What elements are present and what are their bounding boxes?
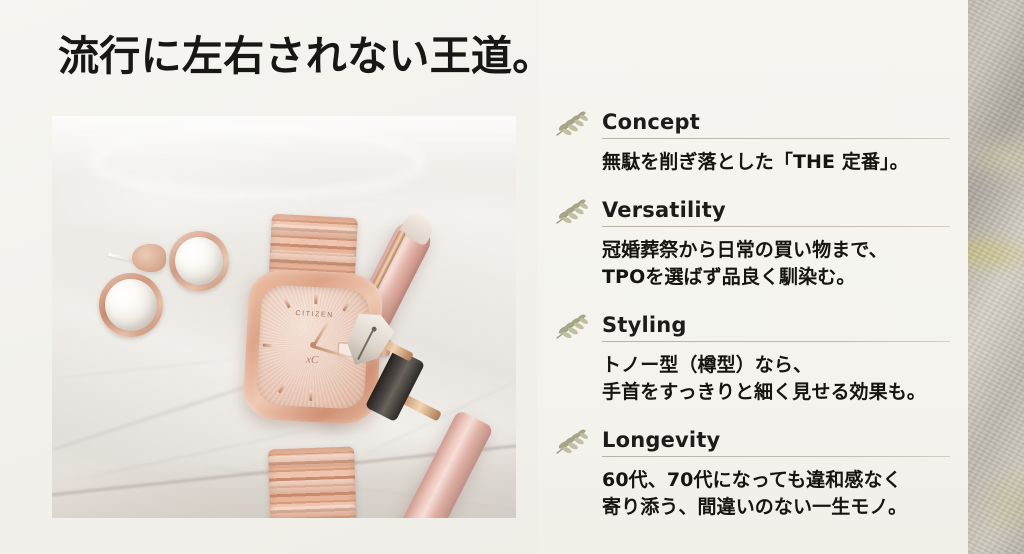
olive-branch-icon	[554, 110, 588, 138]
bracelet-link	[269, 479, 355, 495]
earring-back	[132, 244, 166, 272]
slide-canvas: 流行に左右されない王道。「basic collection」	[0, 0, 1024, 554]
feature-body: 冠婚葬祭から日常の買い物まで、 TPOを選ばず品良く馴染む。	[602, 237, 950, 291]
olive-branch-icon	[554, 428, 588, 456]
feature-header: Styling	[554, 311, 950, 343]
feature-divider	[602, 456, 950, 457]
feature-body: 無駄を削ぎ落とした「THE 定番」。	[602, 149, 950, 176]
feature-header: Concept	[554, 108, 950, 140]
feature-section-longevity: Longevity 60代、70代になっても違和感なく 寄り添う、間違いのない一…	[554, 426, 950, 521]
pearl	[105, 279, 157, 331]
feature-section-versatility: Versatility 冠婚葬祭から日常の買い物まで、 TPOを選ばず品良く馴染…	[554, 196, 950, 291]
feature-section-styling: Styling トノー型（樽型）なら、 手首をすっきりと細く見せる効果も。	[554, 311, 950, 406]
feature-divider	[602, 226, 950, 227]
feature-list: Concept 無駄を削ぎ落とした「THE 定番」。	[554, 108, 950, 521]
feature-title: Concept	[602, 108, 700, 136]
feature-header: Versatility	[554, 196, 950, 228]
blurred-glass-rim	[92, 126, 424, 198]
fabric-grain	[968, 0, 1024, 554]
wristwatch: CITIZEN xC	[212, 220, 412, 518]
feature-divider	[602, 341, 950, 342]
bracelet-link	[270, 504, 356, 518]
olive-branch-icon	[554, 198, 588, 226]
pearl-earring	[105, 279, 157, 331]
bracelet-link	[268, 453, 354, 469]
bracelet-link	[269, 250, 356, 267]
feature-body: 60代、70代になっても違和感なく 寄り添う、間違いのない一生モノ。	[602, 467, 950, 521]
watch-bracelet-lower	[268, 447, 358, 518]
feature-title: Styling	[602, 311, 687, 339]
product-photo: CITIZEN xC	[52, 116, 516, 518]
hand-pinion	[310, 341, 316, 347]
olive-branch-icon	[554, 313, 588, 341]
feature-panel: Concept 無駄を削ぎ落とした「THE 定番」。	[538, 0, 968, 554]
feature-title: Longevity	[602, 426, 720, 454]
feature-title: Versatility	[602, 196, 726, 224]
nib-slit	[357, 331, 373, 361]
feature-section-concept: Concept 無駄を削ぎ落とした「THE 定番」。	[554, 108, 950, 176]
feature-divider	[602, 138, 950, 139]
bracelet-link	[271, 224, 358, 241]
feature-body: トノー型（樽型）なら、 手首をすっきりと細く見せる効果も。	[602, 352, 950, 406]
page-title-japanese: 流行に左右されない王道。	[58, 33, 554, 79]
feature-header: Longevity	[554, 426, 950, 458]
background-fabric-strip	[968, 0, 1024, 554]
